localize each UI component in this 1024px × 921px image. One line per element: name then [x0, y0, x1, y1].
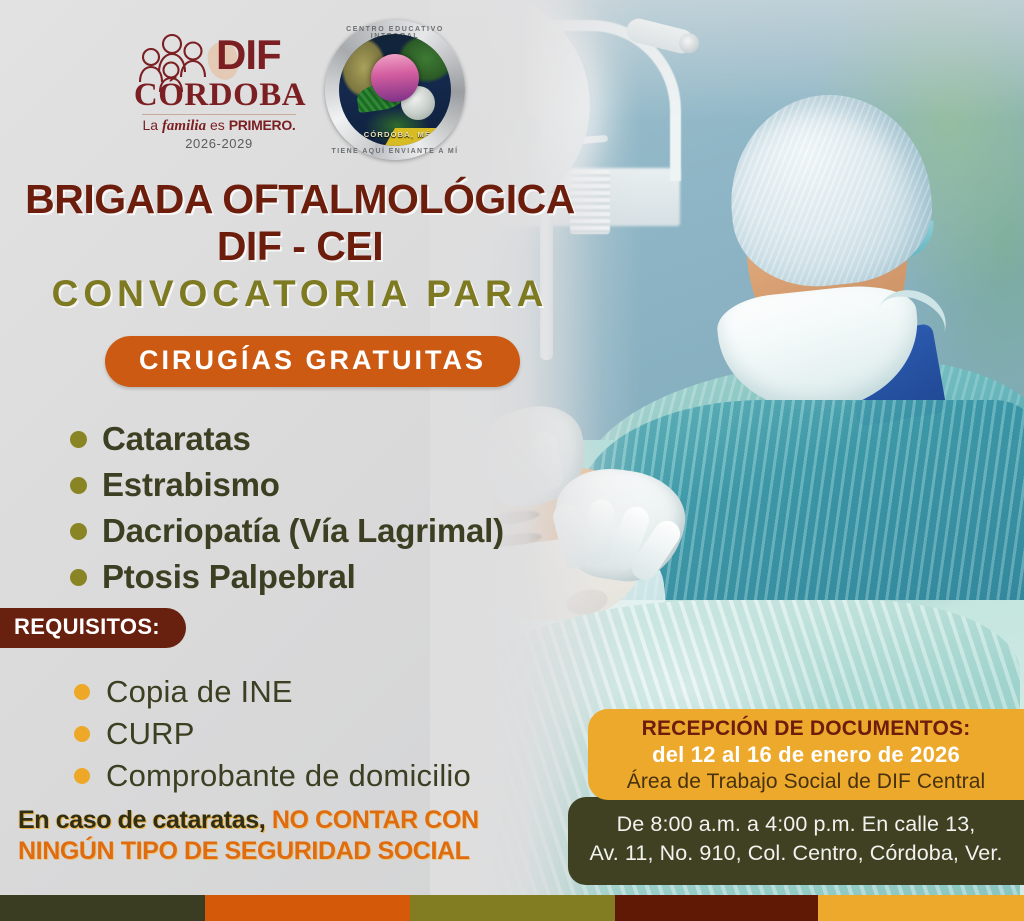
- poster-title: BRIGADA OFTALMOLÓGICA DIF - CEI: [0, 176, 600, 270]
- surgery-label: Cataratas: [102, 420, 251, 458]
- dif-cordoba-logo: DIF CÓRDOBA La familia es PRIMERO. 2026-…: [130, 28, 308, 153]
- dif-tagline: La familia es PRIMERO.: [130, 116, 308, 135]
- list-item: Comprobante de domicilio: [74, 758, 594, 794]
- list-item: Dacriopatía (Vía Lagrimal): [70, 512, 590, 550]
- bullet-dot-icon: [74, 684, 90, 700]
- poster-subtitle: CONVOCATORIA PARA: [0, 273, 600, 315]
- requirements-list: Copia de INE CURP Comprobante de domicil…: [34, 674, 594, 800]
- stripe-segment-amber: [818, 895, 1024, 921]
- stripe-segment-dark-olive: [0, 895, 205, 921]
- title-line-2: DIF - CEI: [0, 223, 600, 270]
- cei-sphere: [371, 54, 419, 102]
- warning-orange-text-2: NINGÚN TIPO DE SEGURIDAD SOCIAL: [18, 837, 470, 865]
- dif-city-name: CÓRDOBA: [132, 78, 308, 112]
- warning-orange-text-1: NO CONTAR CON: [265, 806, 478, 834]
- reception-panel: RECEPCIÓN DE DOCUMENTOS: del 12 al 16 de…: [588, 709, 1024, 800]
- warning-dark-text: En caso de cataratas,: [18, 806, 265, 834]
- title-line-1: BRIGADA OFTALMOLÓGICA: [0, 176, 600, 223]
- dif-period: 2026-2029: [130, 136, 308, 151]
- tagline-familia: familia: [162, 118, 206, 134]
- bullet-dot-icon: [70, 569, 87, 586]
- requirement-label: Comprobante de domicilio: [106, 758, 471, 794]
- photo-top-fade: [430, 0, 1024, 120]
- dif-divider: [142, 114, 296, 115]
- bullet-dot-icon: [70, 431, 87, 448]
- free-surgeries-badge: CIRUGÍAS GRATUITAS: [105, 336, 520, 387]
- cei-bottom-text: TIENE AQUÍ ENVIANTE A MÍ: [325, 148, 465, 155]
- stripe-segment-olive: [410, 895, 615, 921]
- requirements-heading: REQUISITOS:: [0, 608, 186, 648]
- list-item: Cataratas: [70, 420, 590, 458]
- list-item: CURP: [74, 716, 594, 752]
- stripe-segment-orange: [205, 895, 410, 921]
- reception-location: Área de Trabajo Social de DIF Central: [588, 770, 1024, 794]
- surgery-list: Cataratas Estrabismo Dacriopatía (Vía La…: [30, 420, 590, 604]
- list-item: Copia de INE: [74, 674, 594, 710]
- tagline-mid: es: [206, 117, 229, 133]
- list-item: Estrabismo: [70, 466, 590, 504]
- cei-city-text: CÓRDOBA, MÉXICO: [353, 130, 451, 139]
- bullet-dot-icon: [74, 726, 90, 742]
- schedule-panel: De 8:00 a.m. a 4:00 p.m. En calle 13, Av…: [568, 797, 1024, 885]
- schedule-line-2: Av. 11, No. 910, Col. Centro, Córdoba, V…: [568, 839, 1024, 868]
- cei-seal-logo: CENTRO EDUCATIVO INTEGRAL TIENE AQUÍ ENV…: [325, 20, 465, 160]
- schedule-line-1: De 8:00 a.m. a 4:00 p.m. En calle 13,: [568, 810, 1024, 839]
- reception-heading: RECEPCIÓN DE DOCUMENTOS:: [588, 717, 1024, 741]
- bullet-dot-icon: [74, 768, 90, 784]
- tagline-primero: PRIMERO.: [229, 117, 296, 133]
- surgery-label: Dacriopatía (Vía Lagrimal): [102, 512, 504, 550]
- list-item: Ptosis Palpebral: [70, 558, 590, 596]
- surgery-label: Estrabismo: [102, 466, 280, 504]
- reception-dates: del 12 al 16 de enero de 2026: [588, 742, 1024, 768]
- bottom-color-stripe: [0, 895, 1024, 921]
- warning-note: En caso de cataratas, NO CONTAR CON NING…: [18, 805, 538, 867]
- logo-row: DIF CÓRDOBA La familia es PRIMERO. 2026-…: [130, 20, 470, 165]
- requirement-label: CURP: [106, 716, 195, 752]
- requirement-label: Copia de INE: [106, 674, 293, 710]
- cei-seal-inner: CÓRDOBA, MÉXICO: [339, 34, 451, 146]
- bullet-dot-icon: [70, 477, 87, 494]
- bullet-dot-icon: [70, 523, 87, 540]
- dif-wordmark: DIF: [216, 34, 281, 76]
- stripe-segment-dark-red: [615, 895, 818, 921]
- poster-root: DIF CÓRDOBA La familia es PRIMERO. 2026-…: [0, 0, 1024, 921]
- tagline-pre: La: [142, 117, 161, 133]
- surgery-label: Ptosis Palpebral: [102, 558, 356, 596]
